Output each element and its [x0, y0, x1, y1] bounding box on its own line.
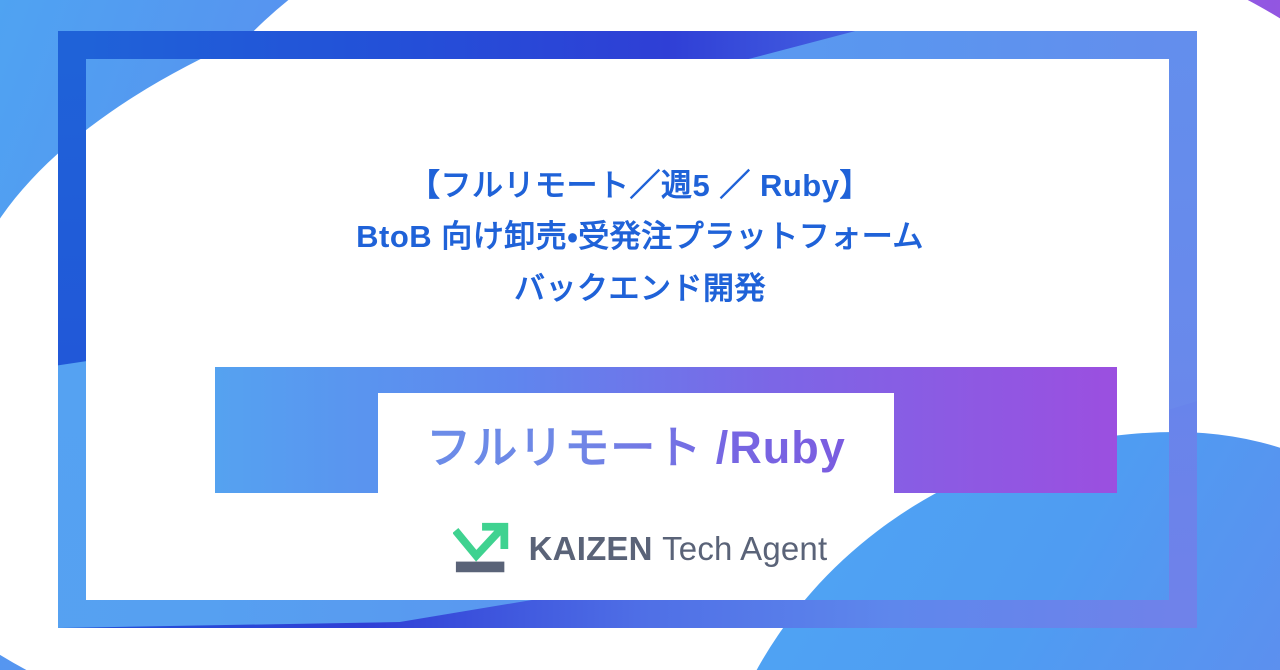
brand-tagline: Tech Agent [662, 530, 827, 567]
highlight-banner-label: フルリモート /Ruby [426, 411, 846, 476]
job-card: 【フルリモート／週5 ／ Ruby】 BtoB 向け卸売・受発注プラットフォーム… [0, 0, 1280, 670]
highlight-banner-inner: フルリモート /Ruby [378, 393, 894, 493]
growth-arrow-icon [453, 518, 515, 580]
brand-logo-text: KAIZEN Tech Agent [529, 530, 828, 568]
highlight-banner: フルリモート /Ruby [215, 367, 1117, 493]
brand-logo: KAIZEN Tech Agent [0, 518, 1280, 580]
brand-name: KAIZEN [529, 530, 653, 567]
page-title: 【フルリモート／週5 ／ Ruby】 BtoB 向け卸売・受発注プラットフォーム… [356, 0, 924, 314]
